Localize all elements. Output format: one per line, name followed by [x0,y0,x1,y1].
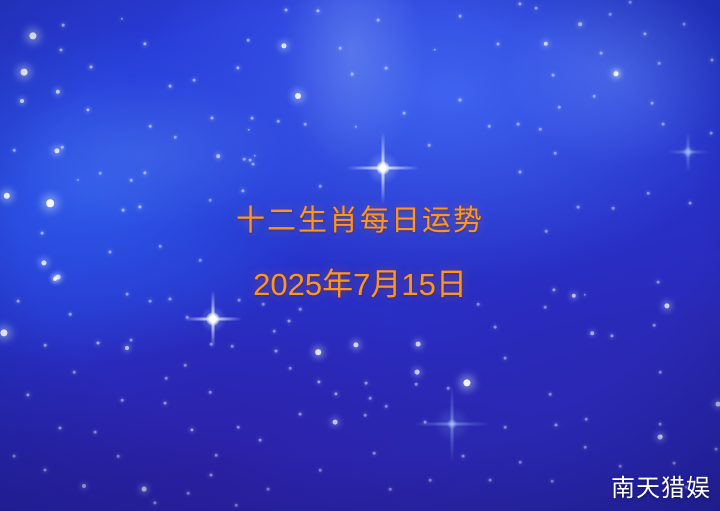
star-dot [619,465,622,468]
star-dot [447,387,450,390]
star-dot [355,126,357,128]
star-dot [716,402,720,407]
star-dot [210,474,213,477]
star-dot [211,117,214,120]
star-dot [174,136,177,139]
star-dot [143,171,146,174]
star-dot [216,154,220,158]
star-dot [231,345,234,348]
star-dot [544,42,548,46]
star-dot [593,95,596,98]
star-spike-horizontal [347,167,419,170]
star-dot [629,1,632,4]
star-dot [130,179,133,182]
star-dot [44,469,47,472]
star-dot [164,402,167,405]
star-spike-vertical [687,132,690,172]
star-dot [117,455,120,458]
star-dot [142,487,147,492]
star-dot [248,129,250,131]
star-dot [243,158,246,161]
diffraction-star [414,386,490,462]
star-dot [615,71,617,73]
star-halo [435,407,470,442]
star-dot [184,364,187,367]
star-dot [299,413,302,416]
star-dot [715,448,718,451]
star-dot [317,380,320,383]
star-dot [539,128,542,131]
star-dot [600,52,603,55]
star-dot [385,67,388,70]
star-dot [651,102,654,105]
star-dot [77,179,79,181]
star-dot [187,492,190,495]
star-dot [616,72,619,75]
star-dot [554,152,557,155]
star-dot [683,23,686,26]
star-dot [660,435,663,438]
star-dot [289,367,292,370]
page-title: 十二生肖每日运势 [0,204,720,238]
star-dot [288,320,291,323]
star-spike-vertical [382,132,385,204]
star-dot [477,303,480,306]
star-dot [653,324,656,327]
star-dot [249,159,252,162]
star-dot [61,146,64,149]
star-dot [463,379,470,386]
star-dot [415,383,418,386]
star-dot [658,435,663,440]
star-core [377,162,390,175]
star-dot [403,112,406,115]
star-dot [424,421,427,424]
star-dot [99,172,102,175]
star-halo [200,306,227,333]
star-dot [82,484,86,488]
star-core [207,313,220,326]
star-dot [237,426,240,429]
star-dot [121,399,124,402]
star-dot [535,7,538,10]
star-dot [385,405,388,408]
star-spike-vertical [451,386,454,462]
star-core [447,419,457,429]
star-dot [373,452,376,455]
star-dot [13,149,16,152]
star-dot [90,66,93,69]
star-dot [241,189,244,192]
star-dot [584,446,587,449]
star-dot [315,349,321,355]
star-dot [54,148,59,153]
star-dot [69,313,72,316]
star-dot [488,125,491,128]
star-dot [165,377,168,380]
star-dot [519,171,522,174]
star-dot [186,316,189,319]
star-dot [658,62,661,65]
star-dot [125,346,129,350]
star-dot [428,144,431,147]
star-dot [710,132,713,135]
star-dot [429,479,432,482]
star-spike-horizontal [184,318,242,321]
star-dot [518,2,521,5]
star-dot [153,501,156,504]
star-dot [585,418,588,421]
star-dot [434,49,436,51]
star-dot [304,123,307,126]
star-dot [552,74,555,77]
star-dot [273,330,276,333]
star-dot [549,393,552,396]
star-dot [267,488,270,491]
star-dot [285,9,288,12]
star-dot [590,331,594,335]
star-dot [44,344,47,347]
diffraction-star [668,132,708,172]
poster-date: 2025年7月15日 [0,267,720,303]
star-dot [351,73,354,76]
star-dot [489,479,492,482]
star-dot [149,125,152,128]
star-dot [377,19,380,22]
star-dot [555,424,558,427]
star-dot [494,326,497,329]
star-dot [615,72,618,75]
star-dot [558,106,561,109]
star-dot [209,391,212,394]
star-halo [366,151,399,184]
star-dot [247,39,250,42]
star-spike-horizontal [414,423,490,426]
star-dot [209,199,212,202]
star-dot [275,350,278,353]
star-dot [578,22,582,26]
star-dot [659,423,662,426]
diffraction-star [347,132,419,204]
zodiac-daily-fortune-poster: 十二生肖每日运势 2025年7月15日 南天猎娱 [0,0,720,511]
star-dot [21,69,28,76]
star-dot [121,18,123,20]
star-dot [711,59,714,62]
star-spike-horizontal [668,151,708,154]
star-dot [389,488,392,491]
star-dot [504,357,507,360]
star-dot [662,123,665,126]
star-dot [13,455,16,458]
star-dot [210,343,213,346]
star-dot [236,66,239,69]
star-dot [94,431,97,434]
star-dot [462,455,465,458]
star-dot [610,334,613,337]
star-dot [365,382,368,385]
star-dot [334,392,337,395]
star-dot [0,329,7,336]
star-dot [459,15,462,18]
star-dot [609,13,612,16]
star-dot [519,461,522,464]
star-dot [497,43,500,46]
star-dot [299,308,302,311]
star-dot [281,43,286,48]
star-dot [647,192,650,195]
star-halo [679,143,697,161]
poster-text-block: 十二生肖每日运势 2025年7月15日 [0,204,720,303]
star-dot [333,420,338,425]
star-dot [551,480,554,483]
star-dot [643,32,646,35]
star-dot [364,414,367,417]
channel-watermark: 南天猎娱 [611,476,711,502]
star-dot [20,99,24,103]
star-dot [517,123,520,126]
star-dot [316,9,319,12]
star-dot [143,42,146,45]
star-dot [97,342,100,345]
star-dot [277,120,280,123]
star-dot [62,24,65,27]
star-dot [353,342,358,347]
star-dot [86,108,89,111]
star-dot [415,370,420,375]
star-dot [613,71,618,76]
star-dot [259,439,262,442]
star-dot [73,371,76,374]
star-dot [459,99,462,102]
star-dot [60,49,63,52]
star-dot [29,32,36,39]
star-dot [130,339,133,342]
star-dot [59,427,62,430]
star-dot [190,428,193,431]
star-dot [262,303,265,306]
star-dot [319,185,322,188]
star-dot [4,193,10,199]
star-dot [673,462,676,465]
star-dot [251,117,254,120]
star-dot [319,469,322,472]
star-dot [169,85,172,88]
star-dot [339,47,342,50]
star-core [683,147,693,157]
star-dot [664,303,669,308]
star-dot [26,393,29,396]
star-dot [659,371,662,374]
star-dot [215,454,218,457]
star-dot [416,342,421,347]
star-dot [252,163,255,166]
star-dot [369,397,372,400]
star-dot [56,90,60,94]
star-dot [235,504,238,507]
star-dot [504,426,507,429]
star-dot [616,72,618,74]
star-dot [254,155,256,157]
star-dot [295,93,301,99]
star-dot [193,79,196,82]
star-dot [544,306,547,309]
